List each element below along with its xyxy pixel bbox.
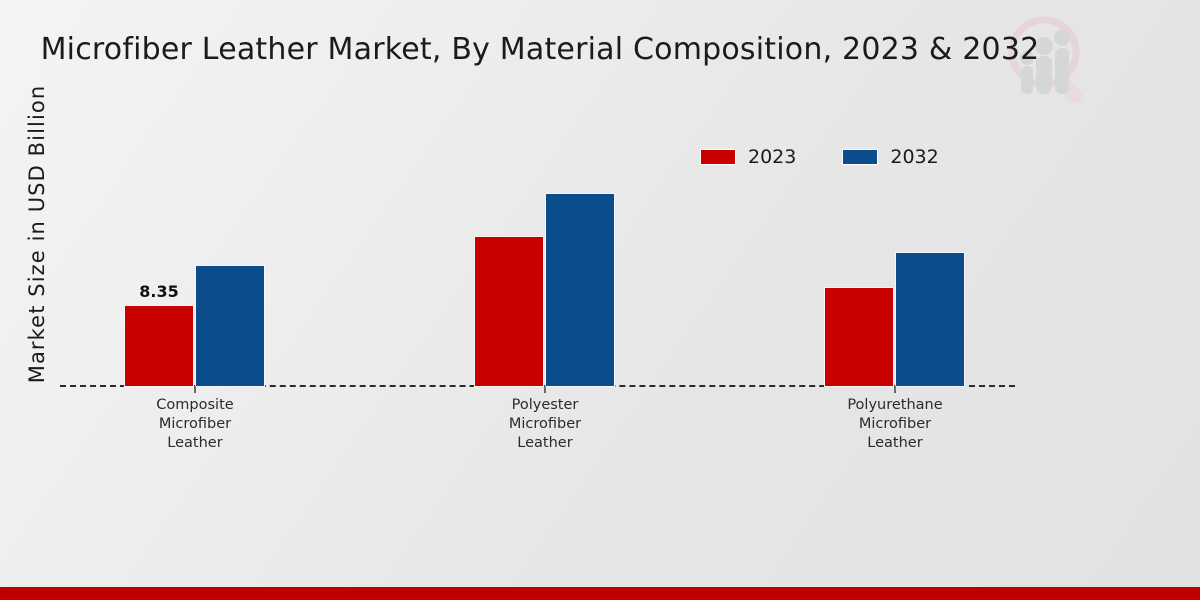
x-axis-label-polyurethane: Polyurethane Microfiber Leather [780, 396, 1010, 453]
x-axis-label-polyurethane-line3: Leather [780, 434, 1010, 453]
bar-value-label-composite-2023: 8.35 [118, 282, 200, 301]
x-axis-tick-polyester [544, 386, 546, 393]
x-axis-label-polyester: Polyester Microfiber Leather [430, 396, 660, 453]
y-axis-title: Market Size in USD Billion [25, 69, 49, 399]
x-axis-tick-composite [194, 386, 196, 393]
bar-group-composite: 8.35 Composite Microfiber Leather [124, 170, 266, 387]
x-axis-label-polyester-line2: Microfiber [430, 415, 660, 434]
x-axis-label-composite-line2: Microfiber [80, 415, 310, 434]
bar-group-polyester: Polyester Microfiber Leather [474, 170, 616, 387]
bar-group-polyurethane: Polyurethane Microfiber Leather [824, 170, 966, 387]
bar-polyester-2032[interactable] [545, 193, 615, 387]
chart-canvas: Microfiber Leather Market, By Material C… [0, 0, 1200, 600]
bar-polyester-2023[interactable] [474, 236, 544, 387]
legend-swatch-2023 [700, 149, 736, 165]
legend-label-2023: 2023 [748, 146, 796, 168]
x-axis-label-polyester-line1: Polyester [430, 396, 660, 415]
x-axis-label-composite-line1: Composite [80, 396, 310, 415]
x-axis-label-composite: Composite Microfiber Leather [80, 396, 310, 453]
bar-polyurethane-2023[interactable] [824, 287, 894, 387]
legend-swatch-2032 [842, 149, 878, 165]
legend-item-2023[interactable]: 2023 [700, 146, 796, 168]
x-axis-label-polyester-line3: Leather [430, 434, 660, 453]
chart-title: Microfiber Leather Market, By Material C… [0, 32, 1080, 67]
plot-area: 8.35 Composite Microfiber Leather Polyes… [60, 170, 1015, 387]
x-axis-label-polyurethane-line2: Microfiber [780, 415, 1010, 434]
chart-legend: 2023 2032 [700, 146, 939, 168]
legend-item-2032[interactable]: 2032 [842, 146, 938, 168]
legend-label-2032: 2032 [890, 146, 938, 168]
bar-composite-2023[interactable] [124, 305, 194, 387]
footer-accent-bar [0, 587, 1200, 600]
bar-composite-2032[interactable] [195, 265, 265, 387]
x-axis-label-composite-line3: Leather [80, 434, 310, 453]
bar-polyurethane-2032[interactable] [895, 252, 965, 387]
x-axis-label-polyurethane-line1: Polyurethane [780, 396, 1010, 415]
x-axis-tick-polyurethane [894, 386, 896, 393]
